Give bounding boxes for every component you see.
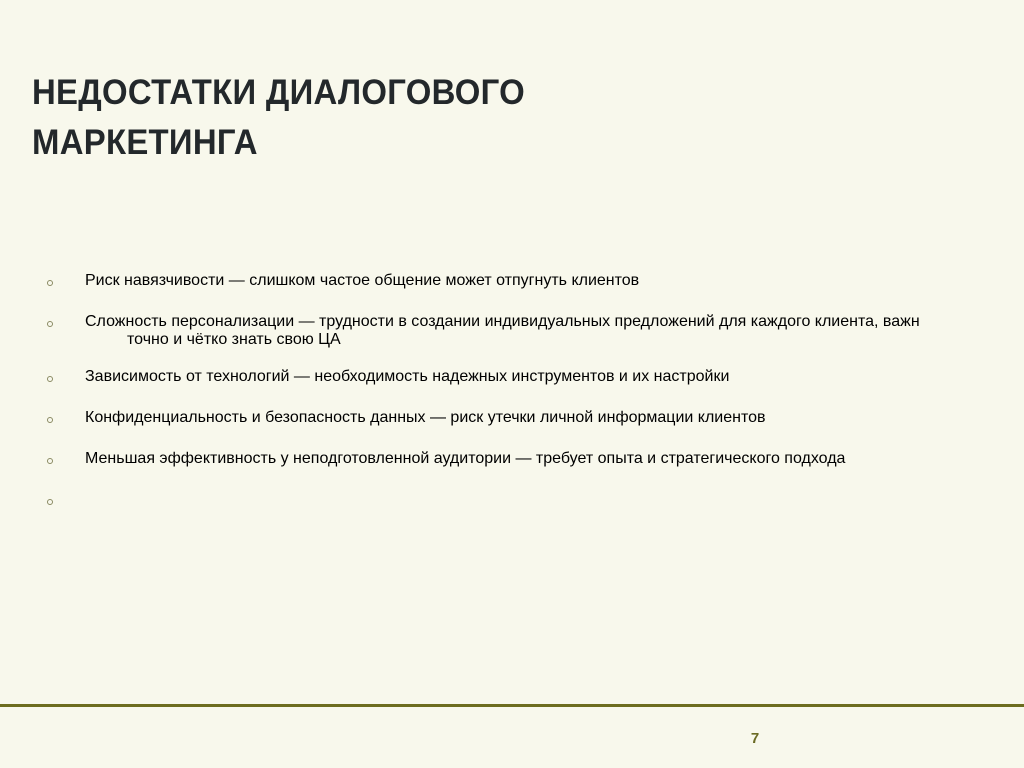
list-item-dash: — <box>426 409 451 426</box>
page-title: НЕДОСТАТКИ ДИАЛОГОВОГО МАРКЕТИНГА <box>32 68 792 168</box>
list-item-dash: — <box>511 450 536 467</box>
title-line-2: МАРКЕТИНГА <box>32 118 746 168</box>
list-item-lead: Риск навязчивости <box>85 272 224 289</box>
list-item: Конфиденциальность и безопасность данных… <box>44 409 924 431</box>
bullet-circle-icon <box>47 321 53 327</box>
slide: НЕДОСТАТКИ ДИАЛОГОВОГО МАРКЕТИНГА Риск н… <box>0 0 1024 768</box>
title-line-1: НЕДОСТАТКИ ДИАЛОГОВОГО <box>32 68 746 118</box>
list-item-dash: — <box>294 313 319 330</box>
list-item: Зависимость от технологий — необходимост… <box>44 368 924 390</box>
footer-divider <box>0 704 1024 707</box>
list-item-lead: Конфиденциальность и безопасность данных <box>85 409 426 426</box>
list-item-dash: — <box>224 272 249 289</box>
list-item-body: необходимость надежных инструментов и их… <box>314 368 729 385</box>
list-item-text: Меньшая эффективность у неподготовленной… <box>85 450 924 468</box>
bullet-circle-icon <box>47 499 53 505</box>
list-item-text: Сложность персонализации — трудности в с… <box>85 313 924 349</box>
list-item: Сложность персонализации — трудности в с… <box>44 313 924 349</box>
bullet-list: Риск навязчивости — слишком частое общен… <box>44 272 924 513</box>
list-item-lead: Меньшая эффективность у неподготовленной… <box>85 450 511 467</box>
list-item-dash: — <box>289 368 314 385</box>
list-item-body: слишком частое общение может отпугнуть к… <box>249 272 639 289</box>
bullet-circle-icon <box>47 458 53 464</box>
list-item-text: Риск навязчивости — слишком частое общен… <box>85 272 924 290</box>
list-item-body: требует опыта и стратегического подхода <box>536 450 846 467</box>
list-item: Риск навязчивости — слишком частое общен… <box>44 272 924 294</box>
list-item: Меньшая эффективность у неподготовленной… <box>44 450 924 472</box>
bullet-circle-icon <box>47 376 53 382</box>
list-item-text: Конфиденциальность и безопасность данных… <box>85 409 924 427</box>
bullet-circle-icon <box>47 280 53 286</box>
page-number: 7 <box>700 729 810 749</box>
list-item-lead: Зависимость от технологий <box>85 368 289 385</box>
list-item-lead: Сложность персонализации <box>85 313 294 330</box>
bullet-circle-icon <box>47 417 53 423</box>
list-item-empty <box>44 491 924 513</box>
list-item-text: Зависимость от технологий — необходимост… <box>85 368 924 386</box>
list-item-body: риск утечки личной информации клиентов <box>450 409 765 426</box>
